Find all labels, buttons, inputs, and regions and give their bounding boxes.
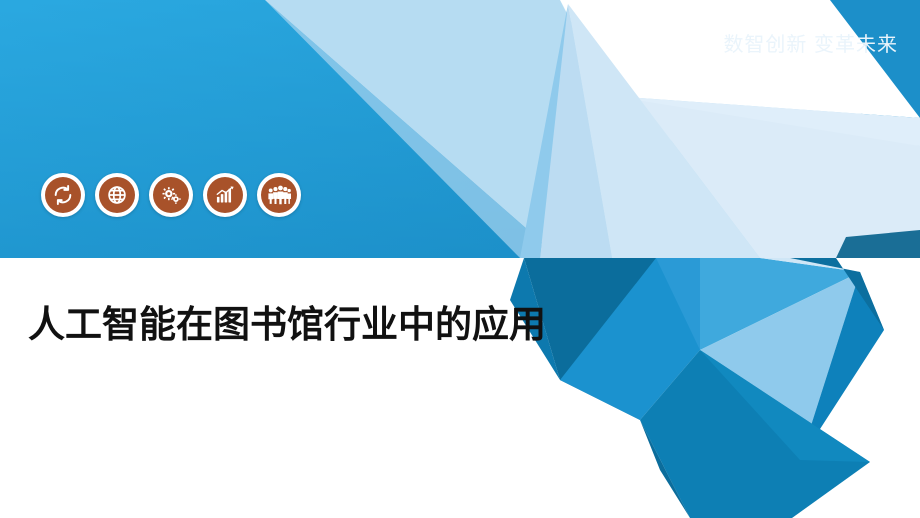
decorative-polygon-background	[0, 0, 920, 518]
icon-badge-globe[interactable]	[95, 173, 139, 217]
page-title: 人工智能在图书馆行业中的应用	[28, 299, 548, 352]
recycle-arrows-icon	[45, 177, 81, 213]
bar-chart-icon	[207, 177, 243, 213]
globe-icon	[99, 177, 135, 213]
tagline-text: 数智创新 变革未来	[723, 28, 898, 57]
slide-canvas: 数智创新 变革未来	[0, 0, 920, 518]
icon-badge-gears[interactable]	[149, 173, 193, 217]
icon-strip	[41, 173, 301, 217]
title-block: 人工智能在图书馆行业中的应用	[28, 299, 548, 352]
people-group-icon	[261, 177, 297, 213]
icon-badge-recycle[interactable]	[41, 173, 85, 217]
icon-badge-people[interactable]	[257, 173, 301, 217]
gears-icon	[153, 177, 189, 213]
icon-badge-bar-chart[interactable]	[203, 173, 247, 217]
